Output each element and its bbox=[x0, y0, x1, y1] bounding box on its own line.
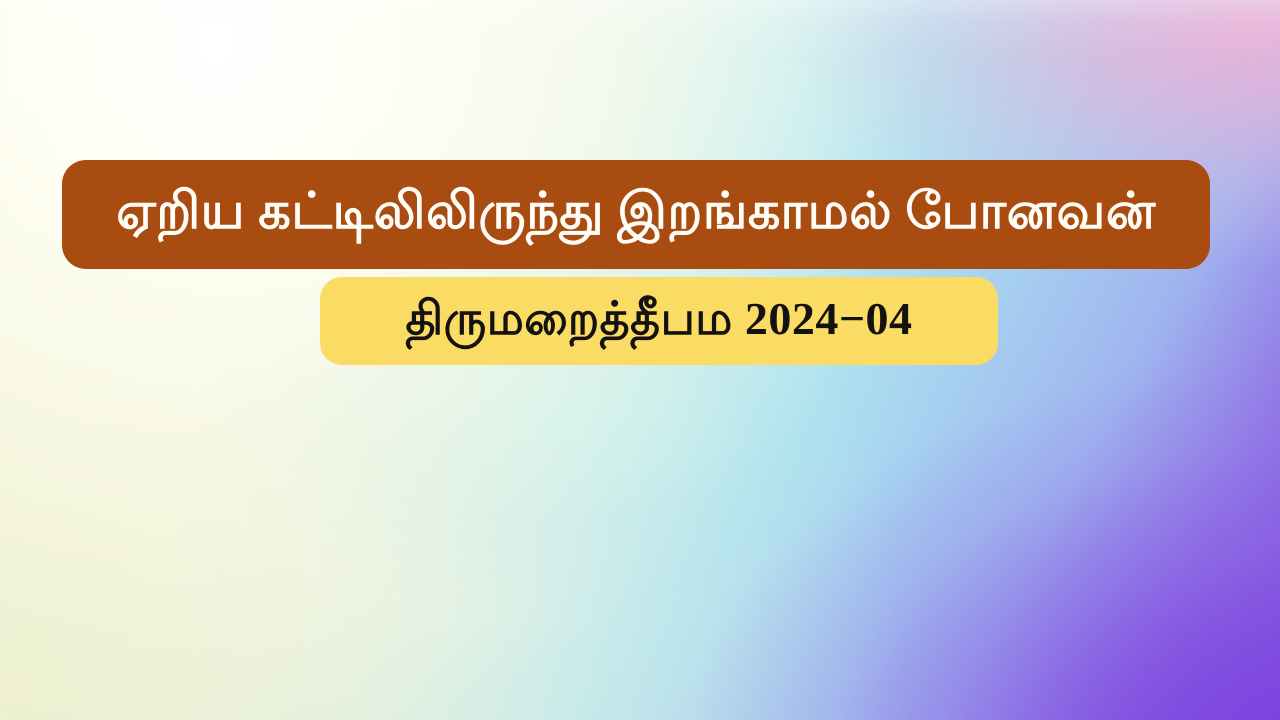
banner-stack: ஏறிய கட்டிலிலிருந்து இறங்காமல் போனவன் தி… bbox=[0, 0, 1280, 720]
subtitle-text: திருமறைத்தீபம 2024−04 bbox=[405, 296, 912, 346]
title-slide: ஏறிய கட்டிலிலிருந்து இறங்காமல் போனவன் தி… bbox=[0, 0, 1280, 720]
title-text: ஏறிய கட்டிலிலிருந்து இறங்காமல் போனவன் bbox=[116, 187, 1156, 242]
title-banner: ஏறிய கட்டிலிலிருந்து இறங்காமல் போனவன் bbox=[62, 160, 1210, 269]
subtitle-banner: திருமறைத்தீபம 2024−04 bbox=[320, 277, 998, 365]
